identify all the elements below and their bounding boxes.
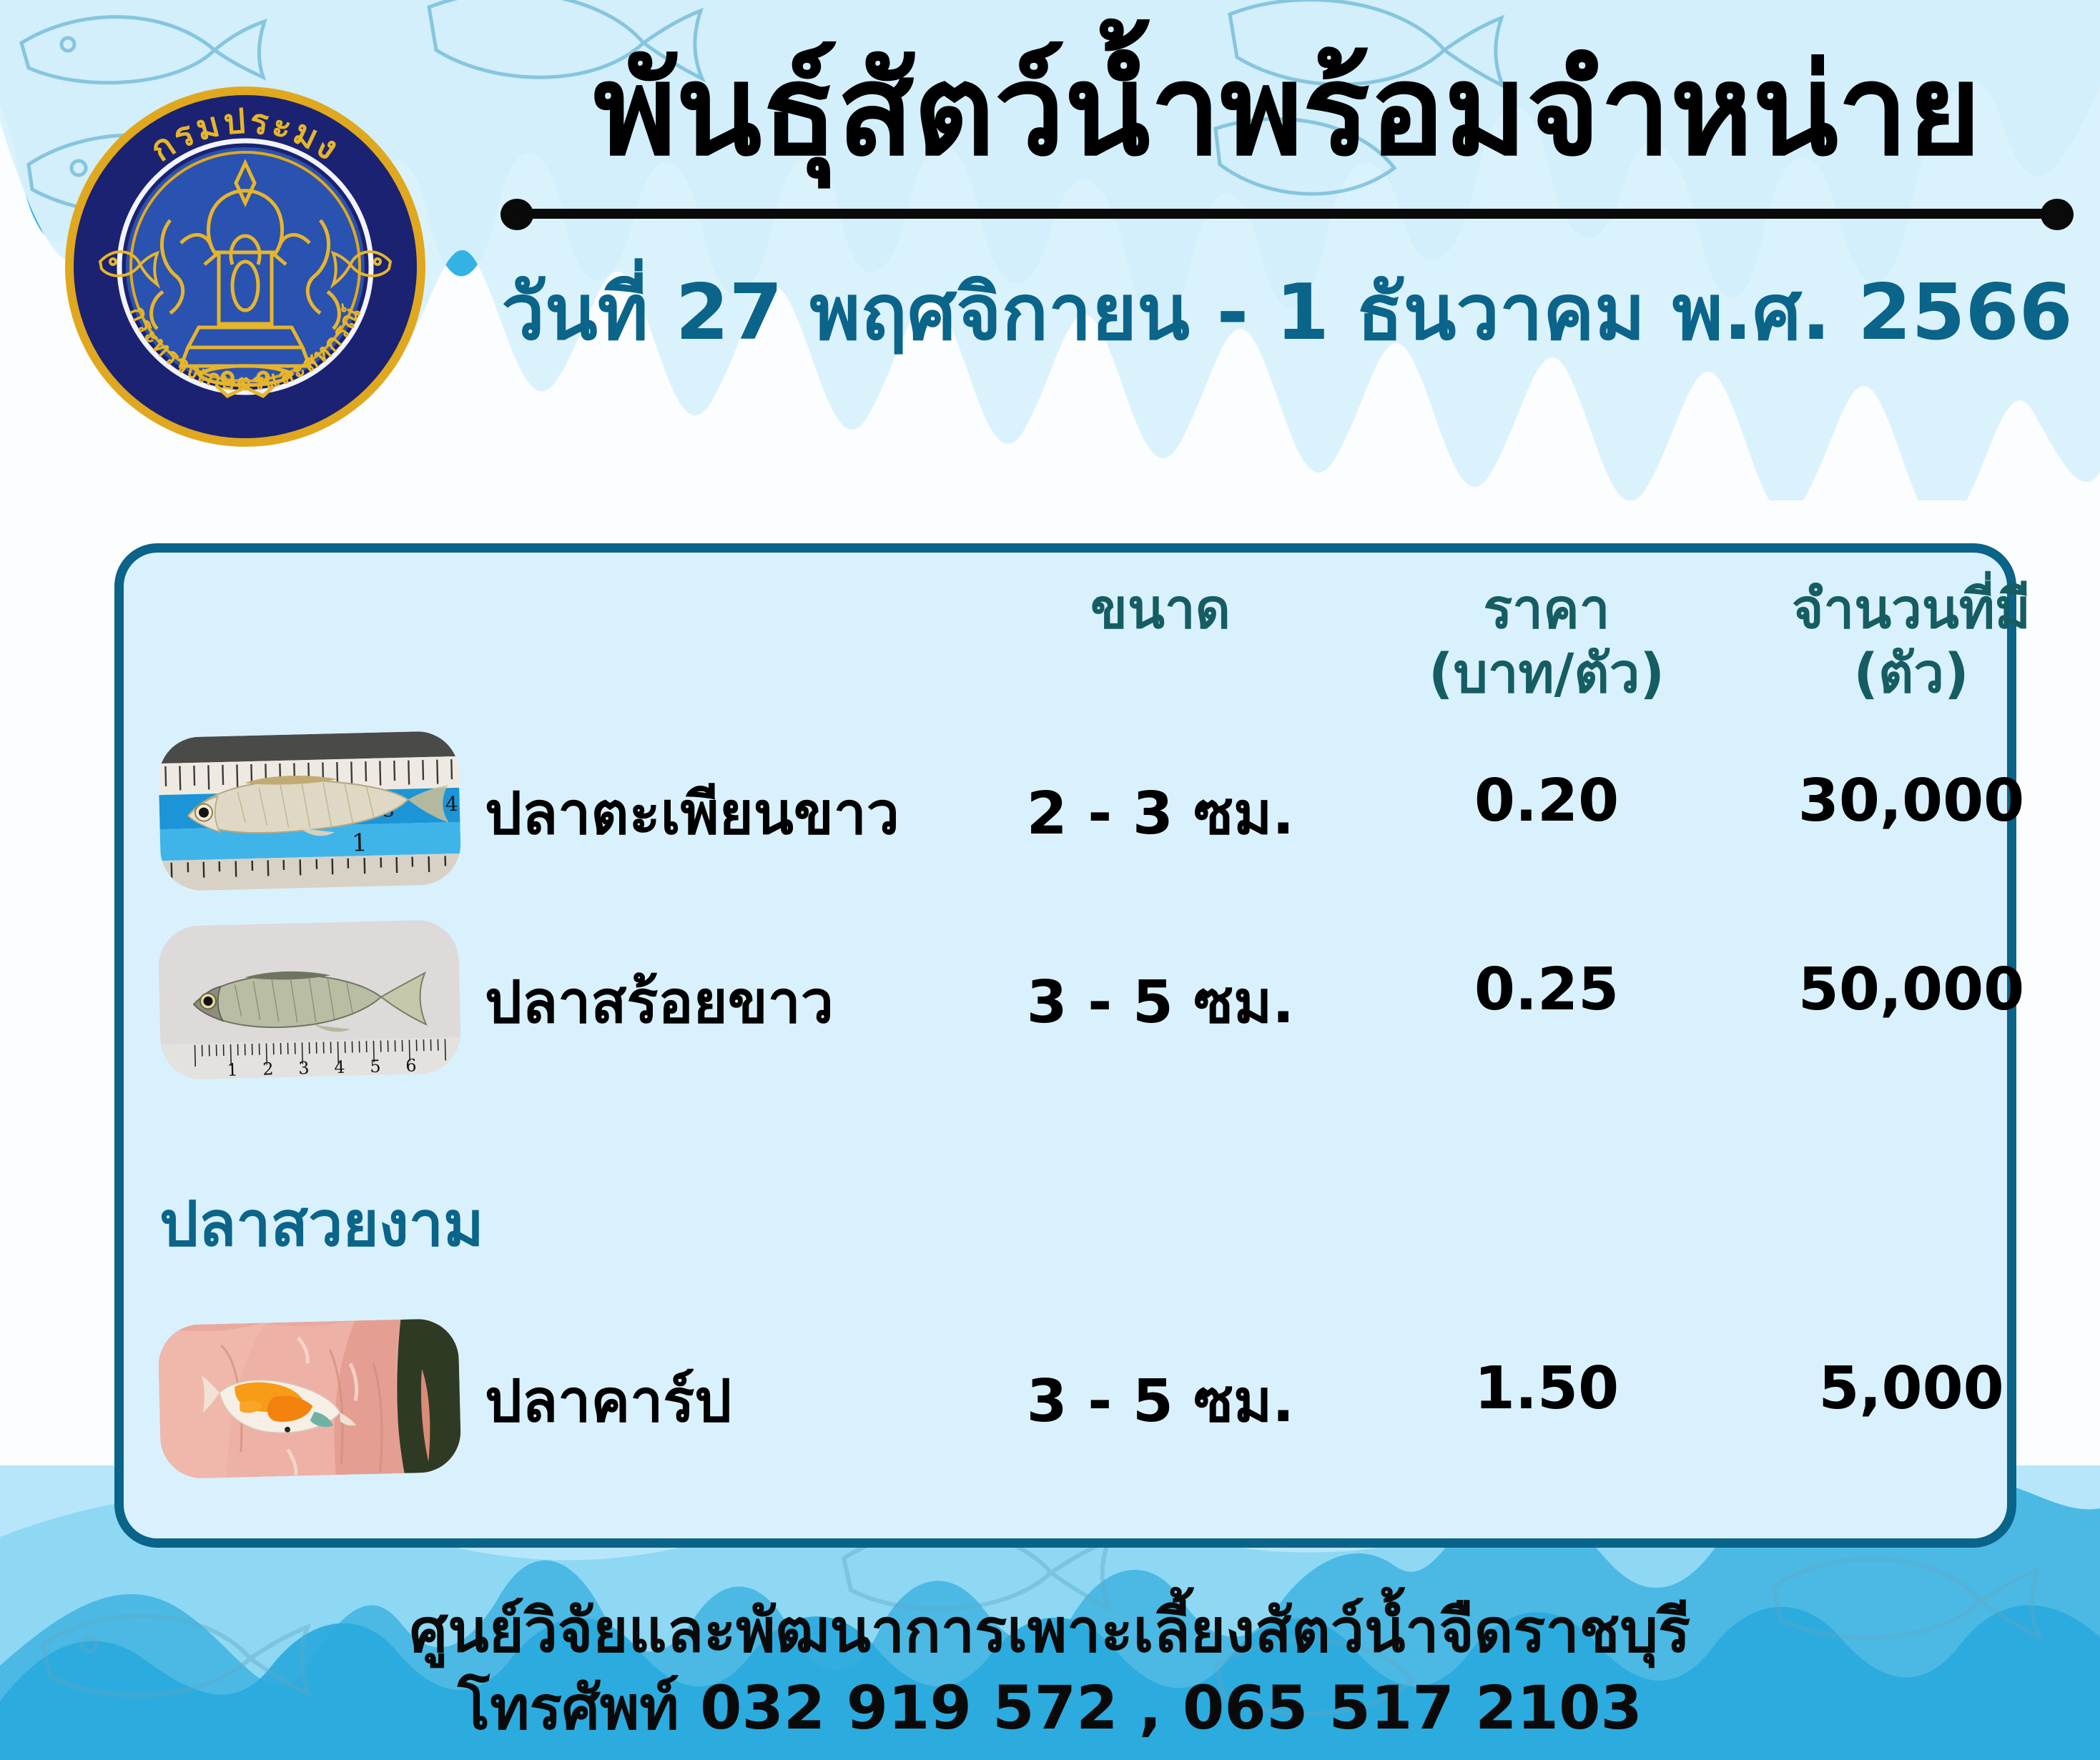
table-row: 1 3 4 ปลาตะเพียนขาว 2 - 3 ซม. <box>124 730 2007 894</box>
poster-header: กรมประมง กระทรวงเกษตรและสหกรณ์ พันธุ์สัต… <box>0 0 2100 500</box>
species-size: 3 - 5 ซม. <box>1017 1355 1303 1448</box>
table-row: 12 34 56 ปลาสร้อยขาว 3 - 5 ซม. 0.25 50,0… <box>124 919 2007 1083</box>
species-price: 1.50 <box>1396 1355 1697 1423</box>
silver-barb-on-ruler-photo: 1 3 4 <box>157 731 461 891</box>
title-block: พันธุ์สัตว์น้ำพร้อมจำหน่าย วันที่ 27 พฤศ… <box>501 43 2074 472</box>
species-name: ปลาตะเพียนขาว <box>485 767 1007 860</box>
species-price: 0.20 <box>1396 767 1697 835</box>
organization-name: ศูนย์วิจัยและพัฒนาการเพาะเลี้ยงสัตว์น้ำจ… <box>0 1596 2100 1666</box>
title-divider <box>501 190 2074 233</box>
species-price: 0.25 <box>1396 956 1697 1024</box>
svg-text:6: 6 <box>405 1055 417 1075</box>
species-name: ปลาสร้อยขาว <box>485 956 1007 1049</box>
koi-carp-in-hand-photo <box>157 1318 461 1479</box>
column-header-price: ราคา (บาท/ตัว) <box>1396 577 1697 705</box>
svg-text:1: 1 <box>227 1059 238 1079</box>
column-header-size: ขนาด <box>1017 577 1303 641</box>
siamese-mud-carp-on-ruler-photo: 12 34 56 <box>157 919 461 1080</box>
table-row: ปลาคาร์ป 3 - 5 ซม. 1.50 5,000 <box>124 1317 2007 1482</box>
category-heading-ornamental-fish: ปลาสวยงาม <box>159 1175 484 1272</box>
species-quantity: 30,000 <box>1754 767 2069 835</box>
contact-phone: โทรศัพท์ 032 919 572 , 065 517 2103 <box>0 1671 2100 1744</box>
department-of-fisheries-seal-logo: กรมประมง กระทรวงเกษตรและสหกรณ์ <box>56 77 435 456</box>
svg-text:2: 2 <box>262 1059 274 1079</box>
poster-footer: ศูนย์วิจัยและพัฒนาการเพาะเลี้ยงสัตว์น้ำจ… <box>0 1596 2100 1744</box>
table-header-row: ขนาด ราคา (บาท/ตัว) จำนวนที่มี (ตัว) <box>124 565 2007 698</box>
species-quantity: 50,000 <box>1754 956 2069 1024</box>
svg-text:4: 4 <box>445 792 458 816</box>
divider-dot-right <box>2041 199 2074 230</box>
species-size: 2 - 3 ซม. <box>1017 767 1303 860</box>
date-range: วันที่ 27 พฤศจิกายน - 1 ธันวาคม พ.ศ. 256… <box>501 250 2074 373</box>
divider-bar <box>519 209 2055 219</box>
svg-text:4: 4 <box>334 1057 345 1077</box>
availability-table: ขนาด ราคา (บาท/ตัว) จำนวนที่มี (ตัว) <box>114 543 2016 1548</box>
page-title: พันธุ์สัตว์น้ำพร้อมจำหน่าย <box>501 43 2074 179</box>
column-header-quantity: จำนวนที่มี (ตัว) <box>1754 577 2069 705</box>
species-size: 3 - 5 ซม. <box>1017 956 1303 1049</box>
species-name: ปลาคาร์ป <box>485 1355 1007 1448</box>
svg-text:1: 1 <box>352 829 368 858</box>
svg-text:3: 3 <box>298 1058 310 1078</box>
species-quantity: 5,000 <box>1754 1355 2069 1423</box>
svg-text:5: 5 <box>370 1057 381 1077</box>
